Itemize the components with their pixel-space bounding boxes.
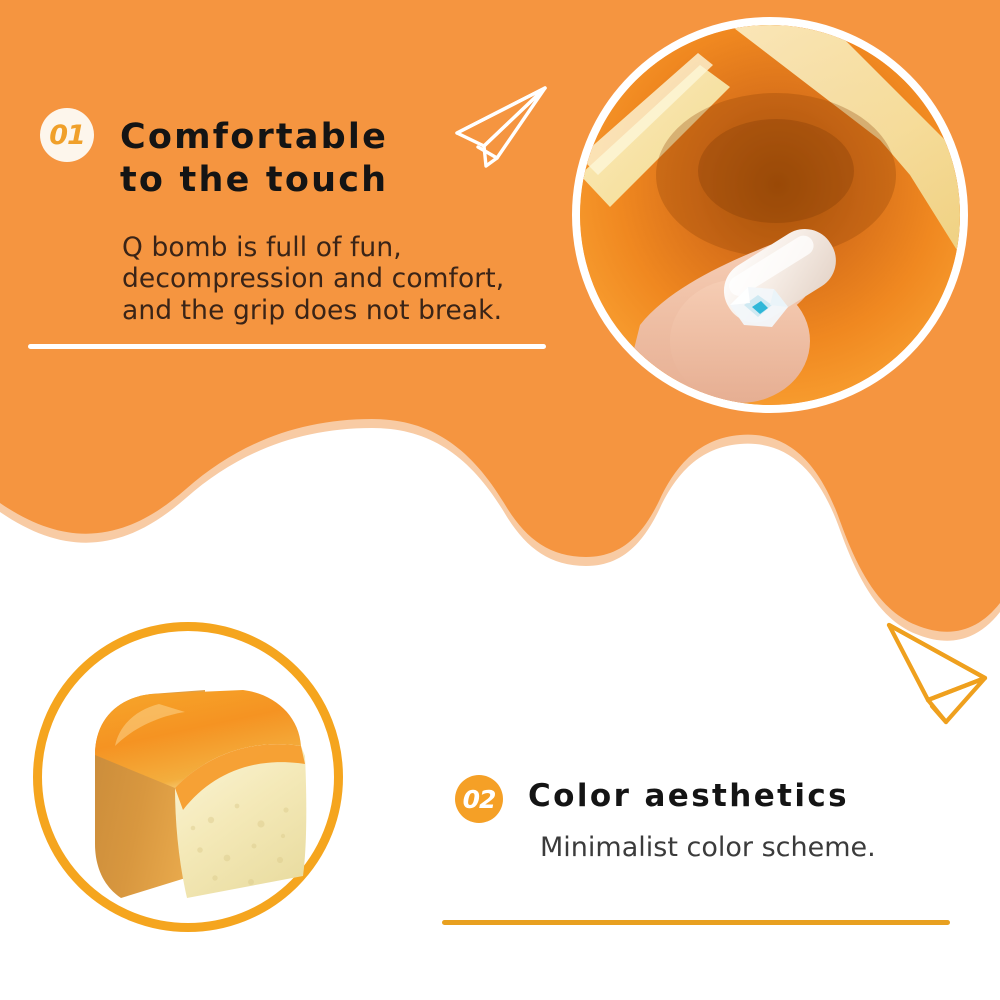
product-feature-banner: 01 Comfortable to the touch Q bomb is fu… [0, 0, 1000, 1000]
paper-plane-icon-top [457, 88, 545, 166]
paper-plane-icon-bottom [889, 625, 985, 722]
decorative-paper-planes [0, 0, 1000, 1000]
